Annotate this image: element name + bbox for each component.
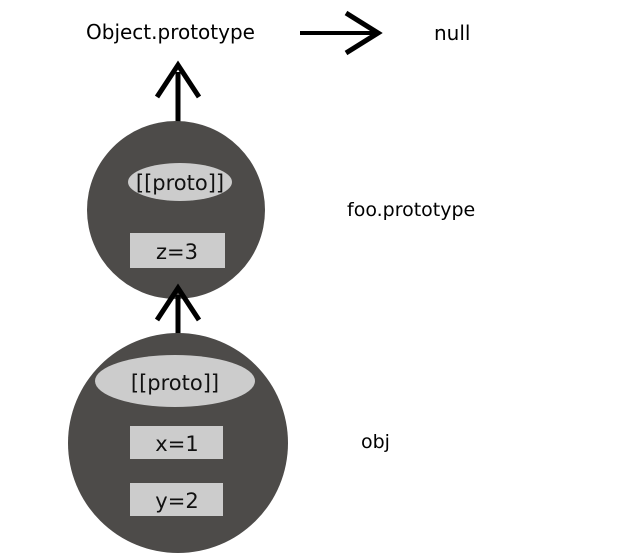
foo-prototype-property-z: z=3 <box>156 240 198 264</box>
arrow-object-prototype-to-null <box>300 13 378 53</box>
arrow-foo-prototype-to-object-prototype <box>157 65 199 128</box>
obj-object: [[proto]] x=1 y=2 <box>68 333 288 553</box>
foo-prototype-side-label: foo.prototype <box>347 199 475 221</box>
foo-prototype-proto-label: [[proto]] <box>136 171 224 195</box>
foo-prototype-object: [[proto]] z=3 <box>87 121 265 299</box>
null-label: null <box>434 21 470 45</box>
obj-property-x: x=1 <box>155 432 198 456</box>
obj-property-y: y=2 <box>155 489 198 513</box>
foo-prototype-circle <box>87 121 265 299</box>
diagram-canvas: Object.prototype null [[proto]] z=3 foo.… <box>0 0 618 553</box>
obj-proto-label: [[proto]] <box>131 371 219 395</box>
prototype-chain-diagram: Object.prototype null [[proto]] z=3 foo.… <box>0 0 618 553</box>
obj-side-label: obj <box>361 431 390 453</box>
object-prototype-label: Object.prototype <box>86 20 255 44</box>
